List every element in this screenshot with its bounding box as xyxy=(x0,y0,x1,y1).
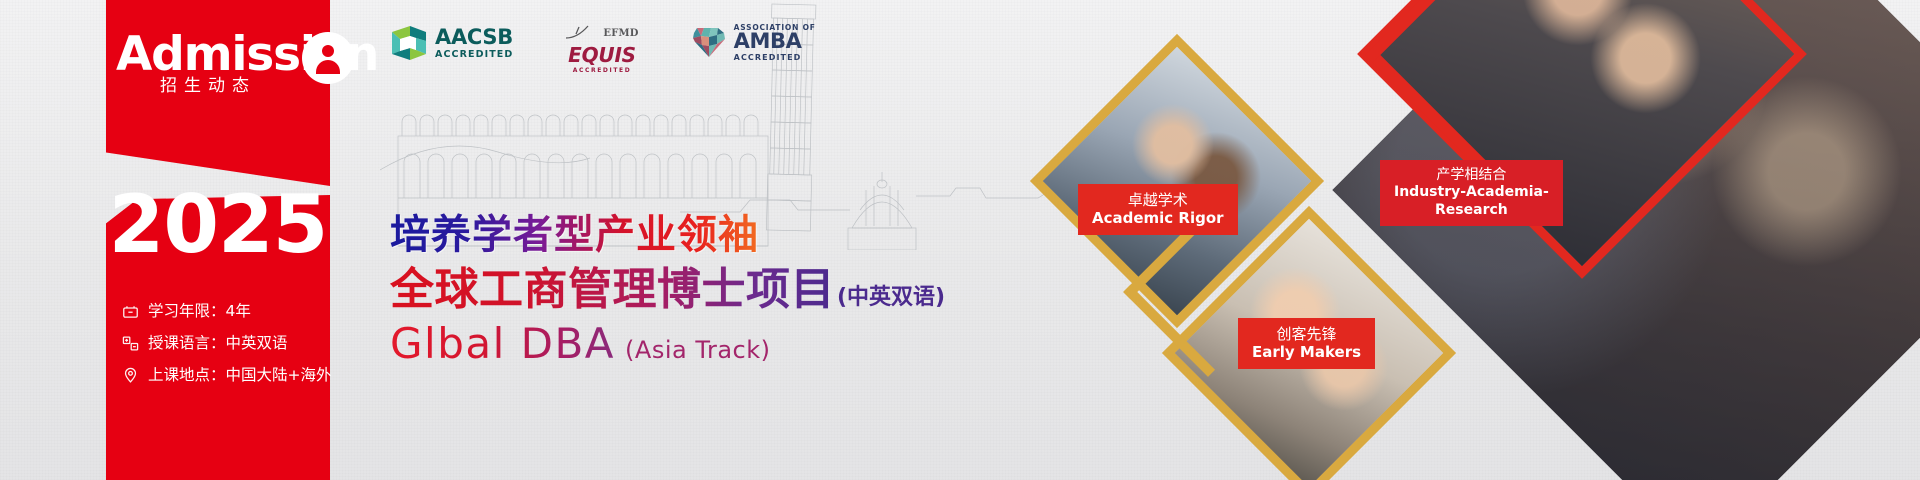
badge-academic-rigor-en: Academic Rigor xyxy=(1092,209,1224,227)
calendar-icon xyxy=(122,303,139,320)
program-title-bilingual: (中英双语) xyxy=(837,279,945,311)
info-label-location: 上课地点：中国大陆+海外 xyxy=(148,359,332,391)
amba-name: AMBA xyxy=(734,31,816,52)
program-title-en: Glbal DBA xyxy=(390,320,615,368)
program-title-en-row: Glbal DBA (Asia Track) xyxy=(390,320,945,368)
efmd-label: EFMD xyxy=(603,29,638,39)
badge-industry-academia: 产学相结合 Industry-Academia- Research xyxy=(1380,160,1563,226)
info-row-duration: 学习年限：4年 xyxy=(122,295,337,327)
badge-early-makers-cn: 创客先锋 xyxy=(1252,325,1361,343)
info-label-duration: 学习年限：4年 xyxy=(148,295,251,327)
badge-early-makers-en: Early Makers xyxy=(1252,343,1361,361)
info-row-language: 授课语言：中英双语 xyxy=(122,327,337,359)
program-title-cn: 全球工商管理博士项目 xyxy=(390,264,835,316)
aacsb-name: AACSB xyxy=(435,25,513,49)
amba-sub: ACCREDITED xyxy=(734,54,816,62)
accreditation-logos: AACSB ACCREDITED EFMD EQUIS ACCREDITED xyxy=(390,24,816,74)
program-title-row: 全球工商管理博士项目 (中英双语) xyxy=(390,264,945,316)
program-info-list: 学习年限：4年 授课语言：中英双语 上课地点：中国大陆+海外 xyxy=(122,295,337,391)
admission-banner: Admission 招生动态 2025 学习年限：4年 xyxy=(0,0,1920,480)
badge-academic-rigor: 卓越学术 Academic Rigor xyxy=(1078,184,1238,235)
year-label: 2025 xyxy=(106,182,330,268)
badge-industry-academia-en: Industry-Academia- xyxy=(1394,184,1549,202)
badge-early-makers: 创客先锋 Early Makers xyxy=(1238,318,1375,369)
info-label-language: 授课语言：中英双语 xyxy=(148,327,288,359)
person-in-circle-icon xyxy=(302,32,354,84)
badge-academic-rigor-cn: 卓越学术 xyxy=(1092,191,1224,209)
efmd-swoosh-icon xyxy=(565,25,599,44)
equis-sub: ACCREDITED xyxy=(565,68,638,74)
badge-industry-academia-en2: Research xyxy=(1394,202,1549,220)
admission-logo-cn: 招生动态 xyxy=(160,71,256,96)
badge-industry-academia-cn: 产学相结合 xyxy=(1394,167,1549,184)
info-row-location: 上课地点：中国大陆+海外 xyxy=(122,359,337,391)
equis-logo: EFMD EQUIS ACCREDITED xyxy=(565,24,638,74)
aacsb-sub: ACCREDITED xyxy=(435,50,513,60)
aacsb-cube-icon xyxy=(390,24,428,62)
location-pin-icon xyxy=(122,367,139,384)
amba-diamond-icon xyxy=(691,26,727,60)
headline-block: 培养学者型产业领袖 全球工商管理博士项目 (中英双语) Glbal DBA (A… xyxy=(390,212,945,368)
aacsb-logo: AACSB ACCREDITED xyxy=(390,24,513,62)
amba-logo: ASSOCIATION OF AMBA ACCREDITED xyxy=(691,24,816,62)
program-title-en-sub: (Asia Track) xyxy=(625,336,770,364)
tagline: 培养学者型产业领袖 xyxy=(390,212,945,258)
admission-logo: Admission 招生动态 xyxy=(116,30,346,108)
language-icon xyxy=(122,335,139,352)
equis-name: EQUIS xyxy=(565,45,638,65)
